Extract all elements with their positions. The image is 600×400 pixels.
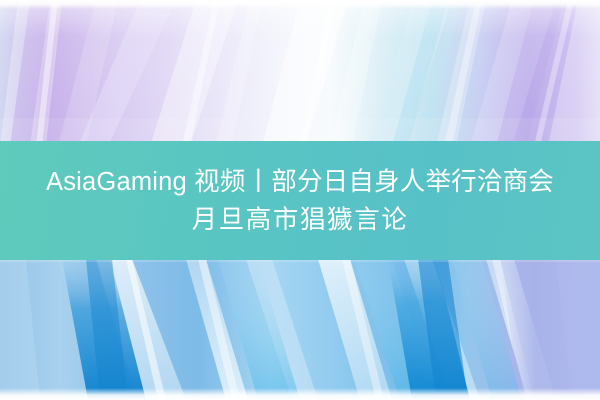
headline-line-2: 月旦高市猖獩言论 — [192, 201, 409, 239]
headline-line-1: AsiaGaming 视频丨部分日自身人举行洽商会 — [46, 163, 554, 201]
headline-band: AsiaGaming 视频丨部分日自身人举行洽商会 月旦高市猖獩言论 — [0, 141, 600, 260]
artwork-top-facets — [0, 0, 600, 146]
banner-image: AsiaGaming 视频丨部分日自身人举行洽商会 月旦高市猖獩言论 — [0, 0, 600, 400]
artwork-bottom-facets — [0, 259, 600, 400]
